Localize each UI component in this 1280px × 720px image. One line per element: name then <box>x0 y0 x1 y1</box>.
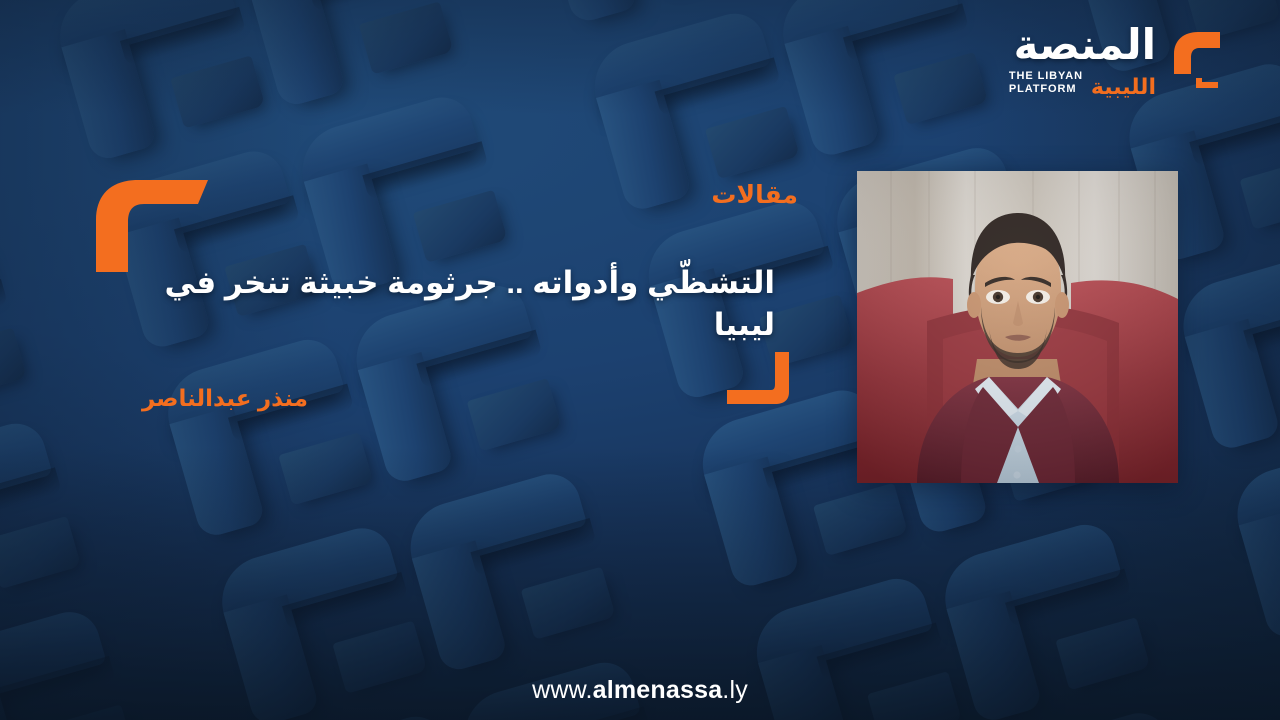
decor-hook-small-icon <box>727 352 793 408</box>
url-suffix: .ly <box>722 676 748 704</box>
brand-en-line2: PLATFORM <box>1009 83 1083 96</box>
author-portrait <box>857 171 1178 483</box>
brand-en-line1: THE LIBYAN <box>1009 70 1083 83</box>
brand-name-english: THE LIBYAN PLATFORM <box>1009 70 1083 98</box>
brand-logo[interactable]: المنصة THE LIBYAN PLATFORM الليبية <box>1009 24 1224 98</box>
article-card: المنصة THE LIBYAN PLATFORM الليبية <box>0 0 1280 720</box>
article-headline: التشظّي وأدواته .. جرثومة خبيثة تنخر في … <box>155 262 775 346</box>
footer-website-url[interactable]: www.almenassa.ly <box>0 676 1280 705</box>
decor-hook-large-icon <box>92 176 210 272</box>
url-prefix: www. <box>532 676 593 704</box>
article-author: منذر عبدالناصر <box>142 385 308 412</box>
brand-name-arabic: المنصة <box>1014 24 1156 66</box>
url-name: almenassa <box>593 676 723 704</box>
brand-name-arabic-sub: الليبية <box>1091 76 1156 98</box>
brand-subtitle-row: THE LIBYAN PLATFORM الليبية <box>1009 70 1156 98</box>
hook-bracket-icon <box>1166 26 1224 96</box>
category-kicker: مقالات <box>711 180 798 210</box>
brand-wordmark: المنصة THE LIBYAN PLATFORM الليبية <box>1009 24 1156 98</box>
